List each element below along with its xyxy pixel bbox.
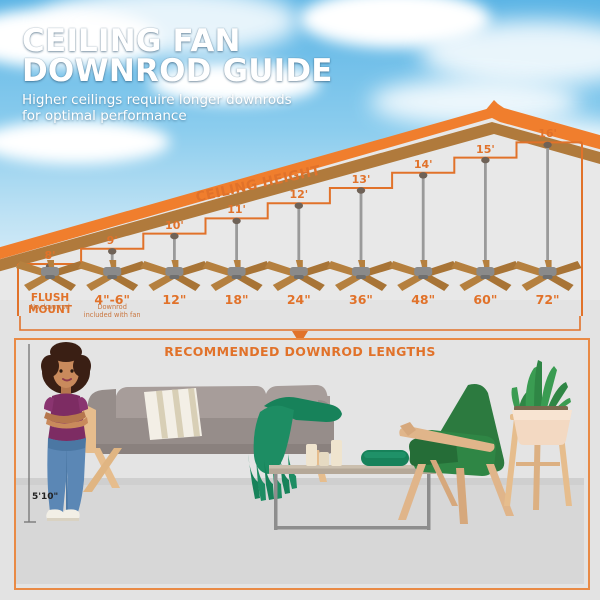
ceiling-canopy [419, 172, 427, 178]
fan-motor-housing [165, 267, 183, 276]
fan-hub-cap [45, 275, 55, 279]
ceiling-canopy [232, 218, 240, 224]
downrod [360, 188, 363, 268]
ceiling-fan [451, 157, 519, 291]
ceiling-canopy [543, 142, 551, 148]
downrod [484, 158, 487, 268]
green-bowl [361, 450, 409, 466]
downrod-length-label: 72" [514, 292, 582, 307]
ceiling-fan [265, 203, 333, 292]
ceiling-canopy [295, 203, 303, 209]
downrod-length-label: 12" [140, 292, 208, 307]
ceiling-fan [16, 260, 84, 291]
ceiling-fan [327, 187, 395, 291]
fan-hub-cap [418, 275, 428, 279]
fan-hub-cap [294, 275, 304, 279]
fan-hub-cap [169, 275, 179, 279]
downrod [422, 173, 425, 268]
fan-motor-housing [476, 267, 494, 276]
recommended-downrod-label: RECOMMENDED DOWNROD LENGTHS [0, 344, 600, 359]
subtitle-line-1: Higher ceilings require longer downrods [22, 93, 333, 109]
ceiling-fan [78, 248, 146, 291]
ceiling-height-tick-16ft: 16' [528, 127, 568, 140]
subtitle-line-2: for optimal performance [22, 109, 333, 125]
person-height-label: 5'10" [32, 492, 58, 502]
fan-group [16, 142, 582, 291]
room-furniture [16, 340, 584, 584]
fan-motor-housing [41, 267, 59, 276]
downrod-length-label: 48" [389, 292, 457, 307]
fan-hub-cap [480, 275, 490, 279]
ceiling-fan [203, 218, 271, 291]
ceiling-fan [514, 142, 582, 291]
downrod [297, 203, 300, 268]
ceiling-canopy [481, 157, 489, 163]
room-scene: 5'10" [16, 340, 584, 584]
title-line-1: CEILING FAN [22, 26, 333, 56]
bracket-arrow-icon [292, 331, 308, 340]
striped-pillow [144, 388, 202, 440]
ceiling-fan [140, 233, 208, 291]
title-line-2: DOWNROD GUIDE [22, 56, 333, 86]
ceiling-height-tick-13ft: 13' [341, 173, 381, 186]
downrod-note: Downrod included with fan [78, 304, 146, 319]
downrod-note: No downrod [16, 304, 84, 312]
fan-hub-cap [107, 275, 117, 279]
fan-motor-housing [539, 267, 557, 276]
ceiling-height-tick-8ft: 8' [30, 249, 70, 262]
fan-motor-housing [103, 267, 121, 276]
header: CEILING FAN DOWNROD GUIDE Higher ceiling… [22, 26, 333, 124]
infographic-canvas: CEILING FAN DOWNROD GUIDE Higher ceiling… [0, 0, 600, 600]
fan-motor-housing [414, 267, 432, 276]
ceiling-height-tick-10ft: 10' [154, 219, 194, 232]
green-armchair [398, 384, 514, 524]
downrod-length-label: 36" [327, 292, 395, 307]
sofa [75, 385, 342, 501]
fan-hub-cap [356, 275, 366, 279]
ceiling-height-tick-15ft: 15' [465, 143, 505, 156]
downrod-length-label: 24" [265, 292, 333, 307]
ceiling-canopy [357, 187, 365, 193]
fan-hub-cap [232, 275, 242, 279]
downrod-length-label: 60" [451, 292, 519, 307]
snake-plant [512, 360, 573, 445]
fan-motor-housing [290, 267, 308, 276]
ceiling-canopy [170, 233, 178, 239]
ceiling-fan [389, 172, 457, 291]
downrod [546, 142, 549, 268]
fan-motor-housing [228, 267, 246, 276]
ceiling-height-tick-11ft: 11' [217, 203, 257, 216]
ceiling-height-tick-9ft: 9' [92, 234, 132, 247]
fan-hub-cap [543, 275, 553, 279]
ceiling-height-tick-14ft: 14' [403, 158, 443, 171]
ceiling-height-tick-12ft: 12' [279, 188, 319, 201]
downrod-length-label: 18" [203, 292, 271, 307]
ceiling-canopy [108, 248, 116, 254]
fan-motor-housing [352, 267, 370, 276]
